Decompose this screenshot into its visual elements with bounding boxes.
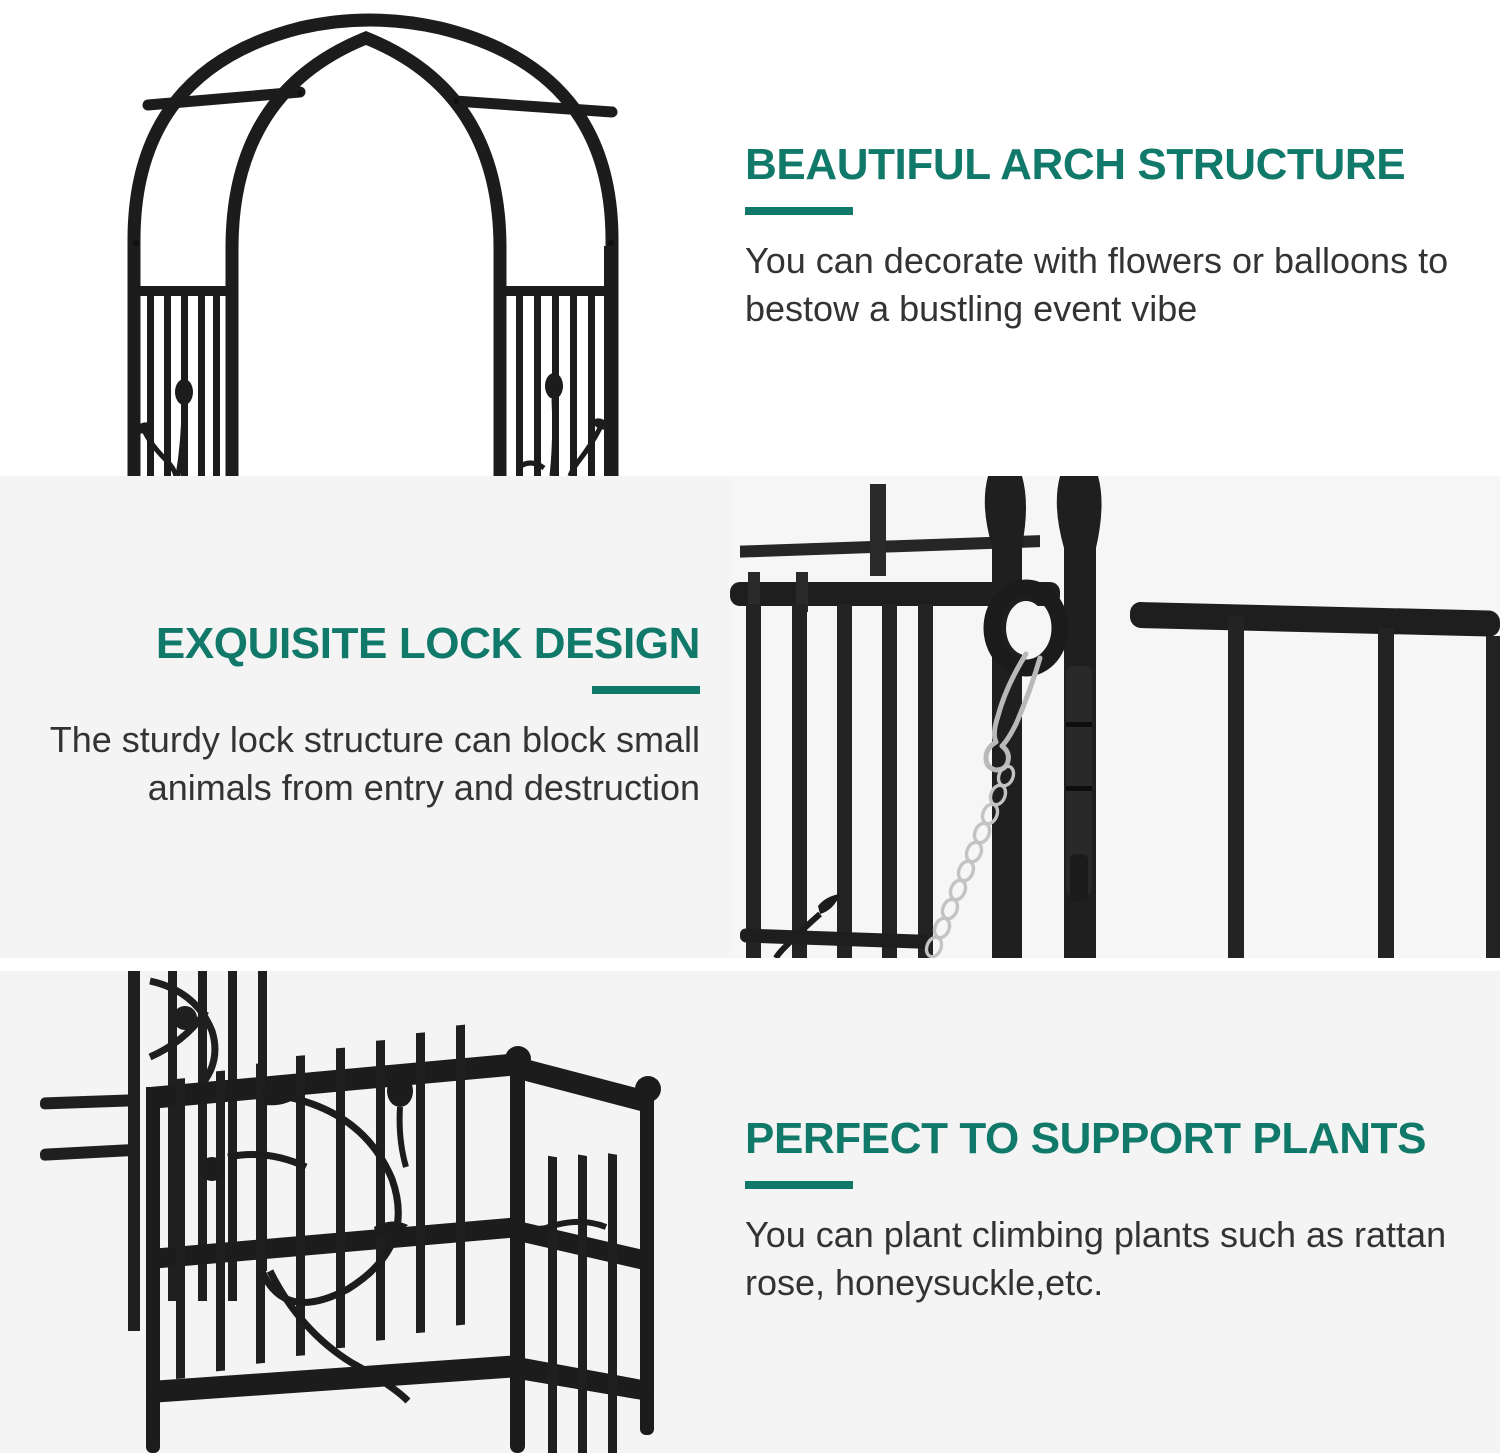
arch-right-gate-panel: [496, 246, 614, 476]
feature-panel-arch-structure: BEAUTIFUL ARCH STRUCTURE You can decorat…: [0, 0, 1500, 476]
panel-body-text: The sturdy lock structure can block smal…: [0, 716, 700, 811]
arch-product-image: [0, 0, 730, 476]
latch-bar: [1066, 666, 1092, 902]
rose-bud-ornament: [545, 373, 563, 399]
arch-illustration: [0, 0, 730, 476]
headline-underline: [745, 207, 853, 215]
lock-copy-block: EXQUISITE LOCK DESIGN The sturdy lock st…: [0, 476, 730, 958]
arch-left-gate-panel: [130, 246, 236, 476]
panel-headline: BEAUTIFUL ARCH STRUCTURE: [745, 143, 1500, 187]
panel-body-text: You can plant climbing plants such as ra…: [745, 1211, 1485, 1306]
lock-product-image: [730, 476, 1500, 958]
plants-copy-block: PERFECT TO SUPPORT PLANTS You can plant …: [730, 971, 1500, 1453]
panel-headline: EXQUISITE LOCK DESIGN: [156, 622, 700, 666]
lock-illustration: [730, 476, 1500, 958]
feature-panel-lock-design: EXQUISITE LOCK DESIGN The sturdy lock st…: [0, 476, 1500, 958]
infographic-page: BEAUTIFUL ARCH STRUCTURE You can decorat…: [0, 0, 1500, 1453]
arch-copy-block: BEAUTIFUL ARCH STRUCTURE You can decorat…: [730, 0, 1500, 476]
panel-headline: PERFECT TO SUPPORT PLANTS: [745, 1117, 1500, 1161]
feature-panel-support-plants: PERFECT TO SUPPORT PLANTS You can plant …: [0, 971, 1500, 1453]
arch-joint-marks: [133, 90, 614, 253]
panel-body-text: You can decorate with flowers or balloon…: [745, 237, 1485, 332]
headline-underline: [745, 1181, 853, 1189]
rose-bud-ornament: [175, 379, 193, 405]
rose-bud-ornament: [387, 1075, 413, 1107]
planter-illustration: [0, 971, 730, 1453]
headline-underline: [592, 686, 700, 694]
planter-product-image: [0, 971, 730, 1453]
